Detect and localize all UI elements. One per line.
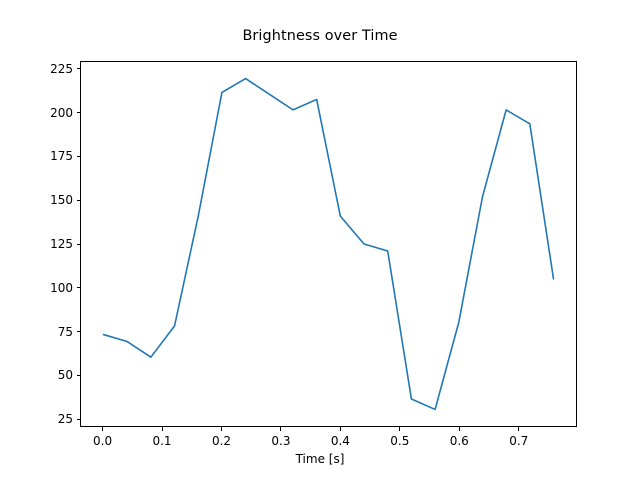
y-tick-label: 175 [50,149,73,163]
y-tick-label: 50 [58,368,73,382]
y-tick-label: 125 [50,237,73,251]
x-tick-label: 0.4 [331,434,350,448]
x-tick-label: 0.3 [271,434,290,448]
x-tick-label: 0.5 [390,434,409,448]
x-tick-mark [459,427,460,431]
y-tick-label: 100 [50,281,73,295]
x-tick-label: 0.7 [509,434,528,448]
data-line-series [81,62,576,426]
plot-area [80,61,577,427]
y-tick-label: 225 [50,62,73,76]
x-tick-label: 0.1 [152,434,171,448]
x-tick-mark [280,427,281,431]
x-tick-label: 0.2 [212,434,231,448]
x-tick-mark [162,427,163,431]
y-tick-label: 150 [50,193,73,207]
y-tick-label: 75 [58,325,73,339]
x-tick-label: 0.6 [450,434,469,448]
x-tick-label: 0.0 [93,434,112,448]
figure-canvas: Brightness over Time 2550751001251501752… [0,0,640,480]
chart-title: Brightness over Time [0,28,640,44]
x-tick-mark [340,427,341,431]
x-tick-mark [221,427,222,431]
y-tick-label: 200 [50,106,73,120]
x-tick-mark [102,427,103,431]
y-tick-label: 25 [58,412,73,426]
x-tick-mark [518,427,519,431]
x-axis-label: Time [s] [0,452,640,466]
brightness-line [103,79,553,410]
x-tick-mark [399,427,400,431]
